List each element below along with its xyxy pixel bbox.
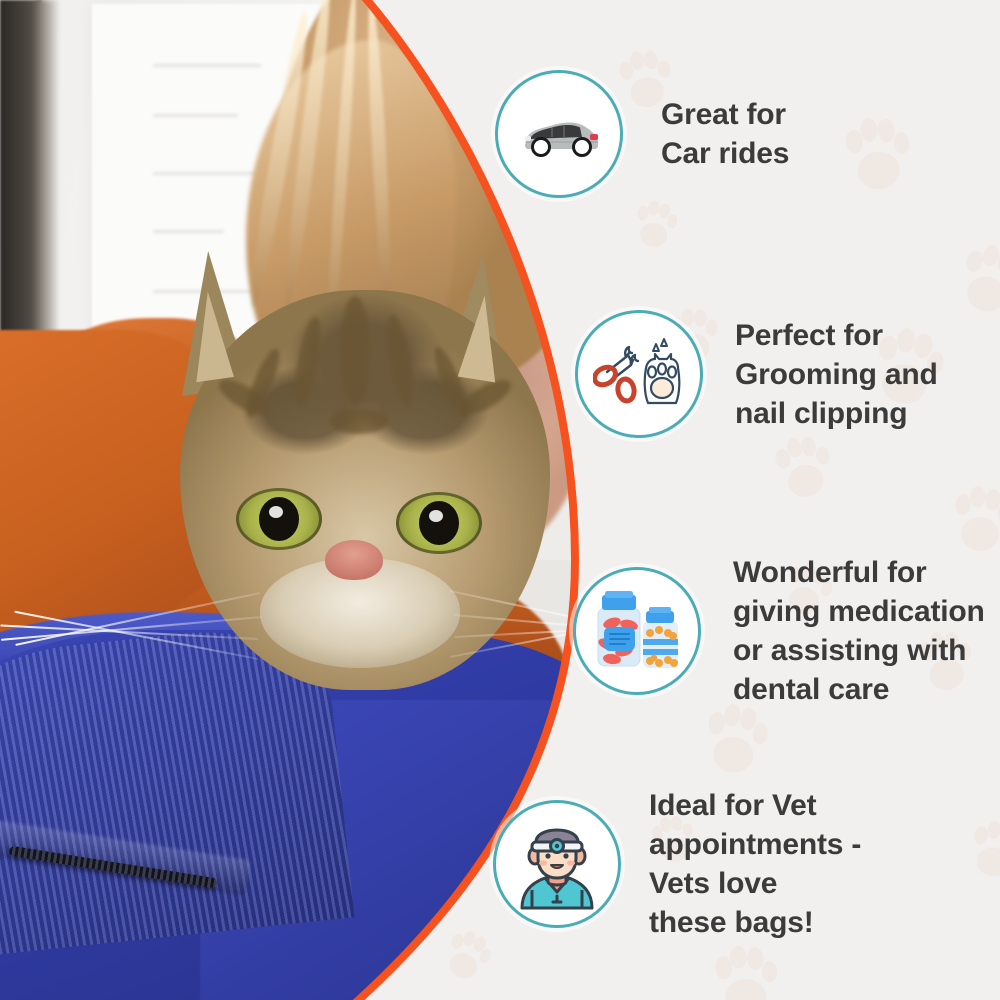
nail-clipper-paw-icon <box>593 335 685 413</box>
medicine-bottles-icon <box>590 589 684 673</box>
feature-list: Great for Car rides <box>0 0 1000 1000</box>
feature-text: Great for Car rides <box>661 95 789 173</box>
feature-item-grooming[interactable]: Perfect for Grooming and nail clipping <box>575 310 938 438</box>
feature-icon-badge <box>495 70 623 198</box>
car-icon <box>516 109 602 159</box>
feature-item-car-rides[interactable]: Great for Car rides <box>495 70 789 198</box>
feature-item-vet[interactable]: Ideal for Vet appointments - Vets love t… <box>493 786 861 942</box>
feature-text: Perfect for Grooming and nail clipping <box>735 316 938 433</box>
feature-item-medication[interactable]: Wonderful for giving medication or assis… <box>573 553 985 709</box>
infographic-panel: Great for Car rides <box>0 0 1000 1000</box>
feature-text: Ideal for Vet appointments - Vets love t… <box>649 786 861 942</box>
feature-icon-badge <box>575 310 703 438</box>
feature-icon-badge <box>573 567 701 695</box>
feature-icon-badge <box>493 800 621 928</box>
veterinarian-icon <box>512 818 602 910</box>
feature-text: Wonderful for giving medication or assis… <box>733 553 985 709</box>
